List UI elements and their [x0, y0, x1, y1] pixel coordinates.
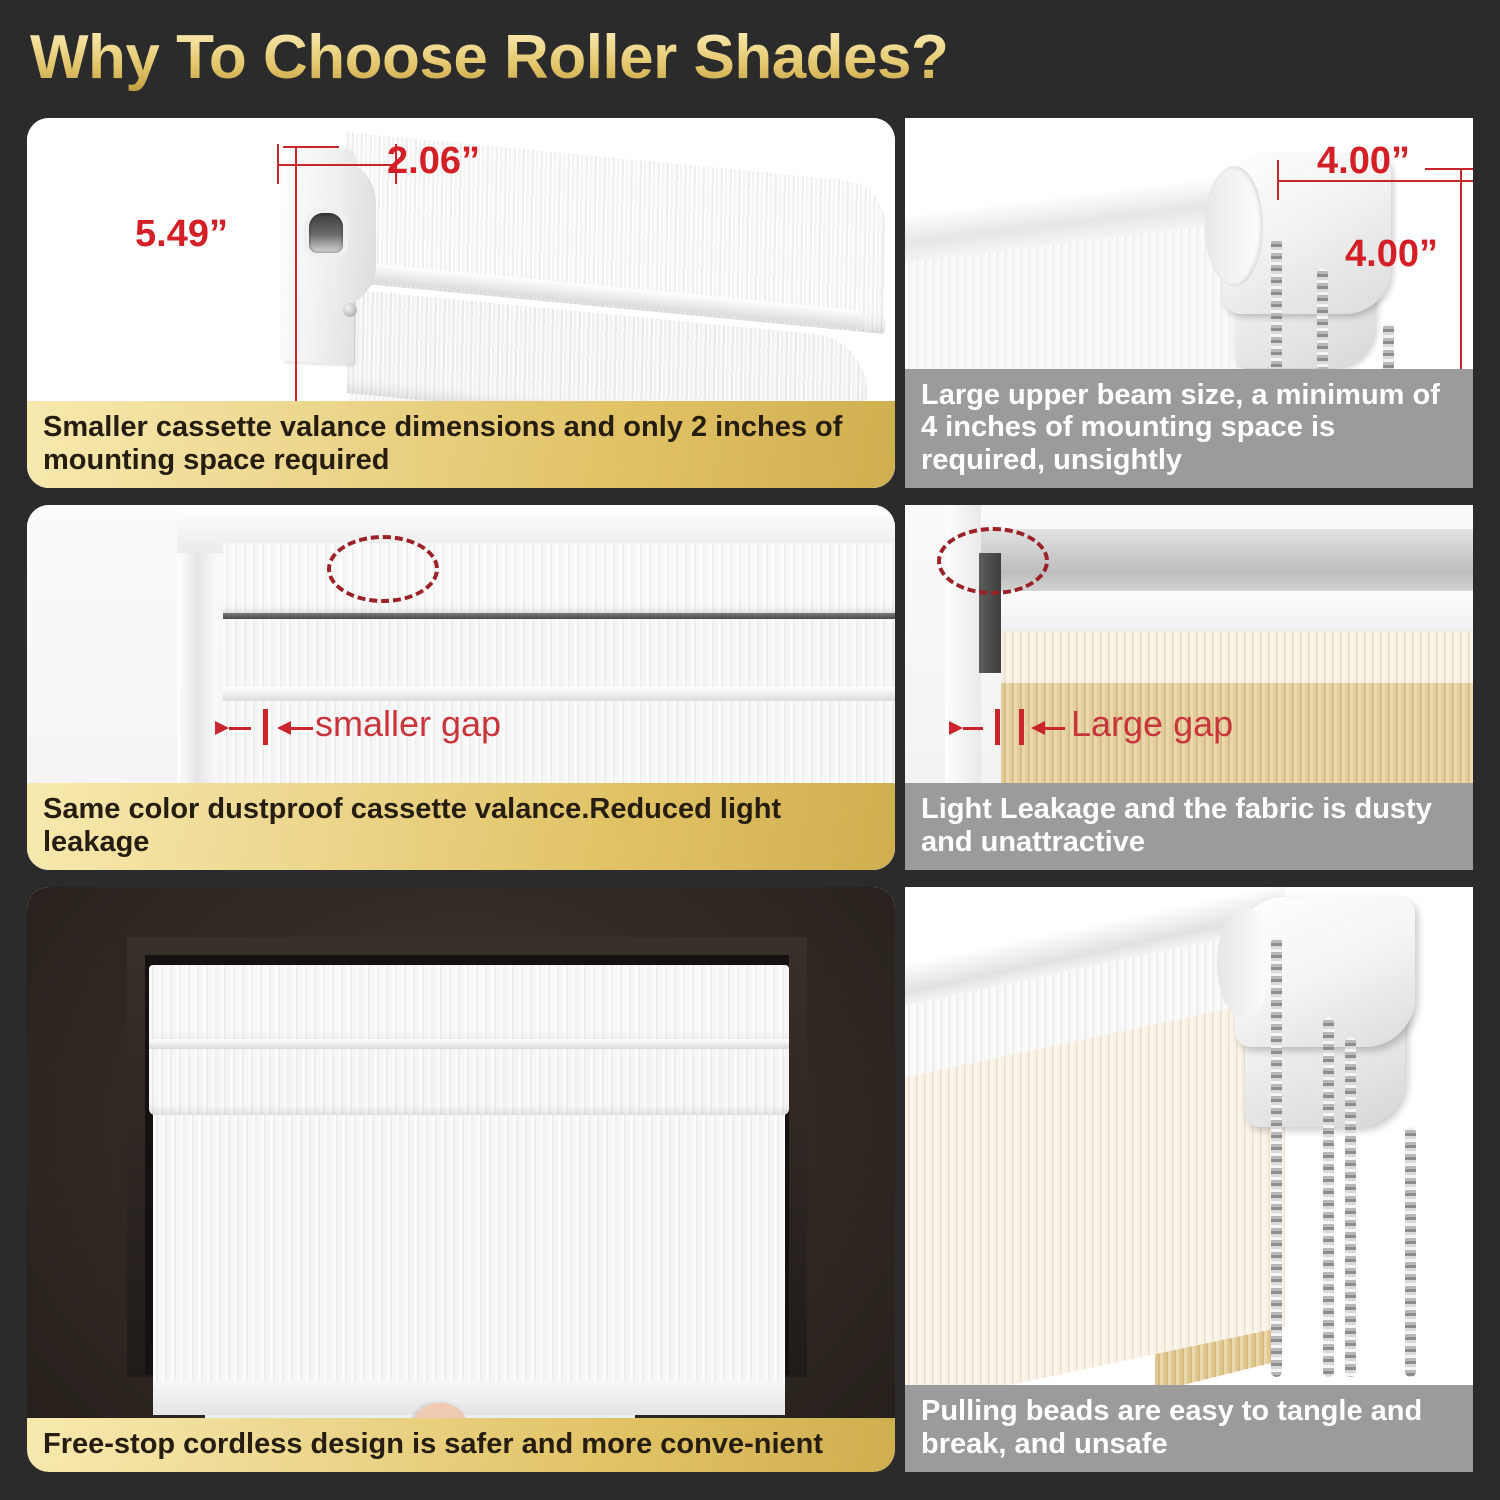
gap-arrow-right — [1031, 721, 1045, 735]
panel-smaller-cassette: 2.06” 5.49” Smaller cassette valance dim… — [27, 118, 895, 488]
panel-large-upper-beam: 4.00” 4.00” Large upper beam size, a min… — [905, 118, 1473, 488]
gap-arrow-left-stem — [229, 727, 251, 730]
height-dimension-tick-top — [283, 146, 339, 148]
gap-callout-label: Large gap — [1071, 703, 1233, 745]
bracket-slot — [309, 213, 343, 253]
bead-chain-rear — [1405, 1127, 1416, 1377]
roller-end-disc — [1217, 907, 1271, 1019]
gap-marker-left — [995, 709, 1000, 745]
gap-marker — [263, 709, 268, 745]
headrail — [981, 529, 1473, 591]
panel-dustproof-cassette: smaller gap Same color dustproof cassett… — [27, 505, 895, 870]
shade-fabric — [153, 1113, 785, 1393]
cassette-valance — [223, 543, 895, 613]
screw-icon — [343, 303, 357, 317]
bottom-rail — [153, 1381, 785, 1415]
page-title: Why To Choose Roller Shades? — [30, 22, 1130, 94]
shade-band — [223, 687, 895, 701]
panel-pulling-beads: Pulling beads are easy to tangle and bre… — [905, 887, 1473, 1472]
width-dimension-tick-left — [1277, 160, 1279, 200]
gap-marker-right — [1019, 709, 1024, 745]
width-dimension-label: 2.06” — [387, 140, 480, 183]
valance-lip — [149, 1039, 789, 1049]
valance-end-cap — [282, 146, 354, 365]
panel-free-stop-cordless: Free-stop cordless design is safer and m… — [27, 887, 895, 1472]
gap-arrow-left-stem — [963, 727, 983, 730]
panel-6-caption: Pulling beads are easy to tangle and bre… — [905, 1385, 1473, 1472]
gap-arrow-left — [215, 721, 229, 735]
height-dimension-label: 5.49” — [135, 213, 228, 256]
bead-chain-middle — [1323, 1017, 1334, 1377]
width-dimension-label: 4.00” — [1317, 140, 1410, 183]
cassette-valance — [149, 965, 789, 1045]
white-shade-fabric — [1001, 585, 1473, 631]
panel-3-caption: Same color dustproof cassette valance.Re… — [27, 783, 895, 870]
cream-shade-fabric — [1001, 625, 1473, 683]
height-dimension-label: 4.00” — [1345, 233, 1438, 276]
infographic-root: Why To Choose Roller Shades? 2.06” 5.49”… — [0, 0, 1500, 1500]
roller-end-disc — [1205, 166, 1263, 286]
gap-arrow-right-stem — [1045, 727, 1065, 730]
gap-arrow-right — [277, 721, 291, 735]
panel-4-caption: Light Leakage and the fabric is dusty an… — [905, 783, 1473, 870]
panel-5-caption: Free-stop cordless design is safer and m… — [27, 1418, 895, 1472]
bead-chain-middle-2 — [1345, 1037, 1356, 1377]
highlight-ellipse-icon — [937, 527, 1049, 595]
panel-light-leakage: Large gap Light Leakage and the fabric i… — [905, 505, 1473, 870]
height-dimension-tick-top — [1425, 168, 1473, 170]
bead-chain-front — [1271, 937, 1282, 1377]
highlight-ellipse-icon — [327, 535, 439, 603]
valance-roller — [149, 1047, 789, 1115]
gap-callout-label: smaller gap — [315, 703, 501, 745]
gap-arrow-right-stem — [291, 727, 313, 730]
panel-5-photo — [27, 887, 895, 1472]
gap-arrow-left — [949, 721, 963, 735]
panel-2-caption: Large upper beam size, a minimum of 4 in… — [905, 369, 1473, 488]
panel-1-caption: Smaller cassette valance dimensions and … — [27, 401, 895, 488]
width-dimension-tick-left — [277, 144, 279, 184]
gap-shadow-line — [223, 613, 895, 619]
